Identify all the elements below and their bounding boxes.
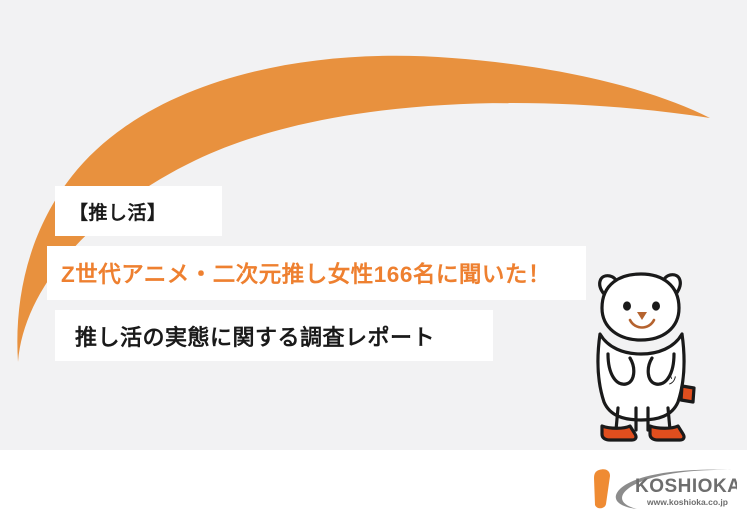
bear-illustration-icon: ツ xyxy=(578,262,706,442)
logo-brand-text: KOSHIOKA xyxy=(635,476,737,497)
title-band-subtitle-text: 推し活の実態に関する調査レポート xyxy=(55,320,435,352)
koshioka-logo-icon: KOSHIOKA www.koshioka.co.jp xyxy=(585,464,737,512)
title-band-subtitle: 推し活の実態に関する調査レポート xyxy=(55,310,493,361)
presentation-slide: 【推し活】 Z世代アニメ・二次元推し女性166名に聞いた！ 推し活の実態に関する… xyxy=(0,0,747,532)
white-bear-mascot: ツ xyxy=(578,262,706,442)
koshioka-logo: KOSHIOKA www.koshioka.co.jp xyxy=(585,464,737,512)
title-band-headline-text: Z世代アニメ・二次元推し女性166名に聞いた！ xyxy=(47,257,551,289)
logo-url-text: www.koshioka.co.jp xyxy=(646,497,728,507)
title-band-category-text: 【推し活】 xyxy=(55,198,167,225)
title-band-category: 【推し活】 xyxy=(55,186,222,236)
title-band-headline: Z世代アニメ・二次元推し女性166名に聞いた！ xyxy=(47,246,586,300)
mascot-side-marks: ツ xyxy=(666,375,677,387)
